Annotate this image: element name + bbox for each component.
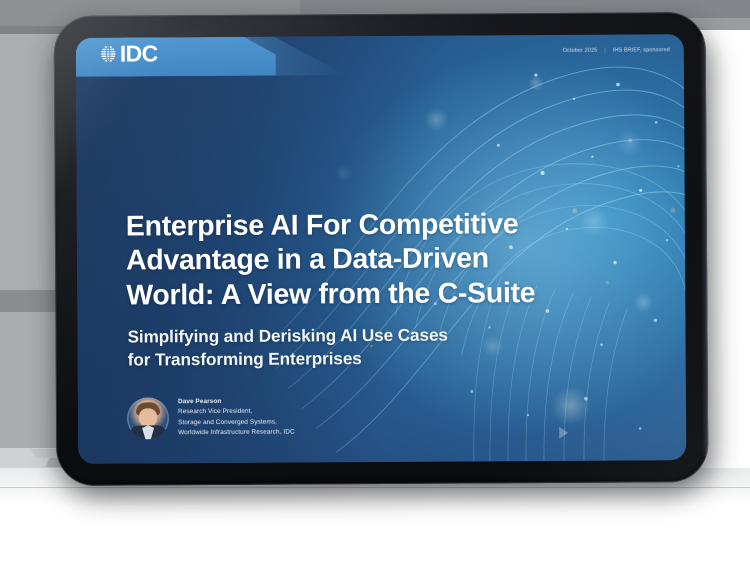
header-meta-separator: | [604,48,606,54]
author-group: Storage and Converged Systems, [178,417,295,428]
avatar [127,397,169,439]
striped-globe-icon [99,45,118,64]
slide-subtitle-line-2: for Transforming Enterprises [128,346,568,372]
author-text: Dave Pearson Research Vice President, St… [178,397,295,439]
tablet-bezel: IDC October 2025 | IHS BRIEF, sponsored … [54,12,709,486]
slide-title: Enterprise AI For Competitive Advantage … [126,207,597,313]
idc-logo-text: IDC [120,44,158,63]
slide-subtitle-line-1: Simplifying and Derisking AI Use Cases [127,323,567,349]
play-triangle-icon [559,427,568,439]
idc-logo[interactable]: IDC [99,44,158,63]
slide-title-line-2: Advantage in a Data-Driven [126,241,596,278]
slide-title-line-3: World: A View from the C-Suite [126,276,596,313]
slide-subtitle: Simplifying and Derisking AI Use Cases f… [127,323,567,372]
header-meta-doc-id: IHS BRIEF, sponsored [613,47,670,53]
author-block: Dave Pearson Research Vice President, St… [127,397,295,440]
screenshot-canvas: IDC October 2025 | IHS BRIEF, sponsored … [0,0,750,563]
author-name: Dave Pearson [178,397,295,408]
tablet-device: IDC October 2025 | IHS BRIEF, sponsored … [54,12,709,486]
header-meta-date: October 2025 [563,48,598,54]
tablet-screen[interactable]: IDC October 2025 | IHS BRIEF, sponsored … [76,34,687,464]
author-title: Research Vice President, [178,407,295,418]
slide-title-line-1: Enterprise AI For Competitive [126,207,596,244]
header-meta: October 2025 | IHS BRIEF, sponsored [563,47,670,54]
author-org: Worldwide Infrastructure Research, IDC [178,428,295,439]
